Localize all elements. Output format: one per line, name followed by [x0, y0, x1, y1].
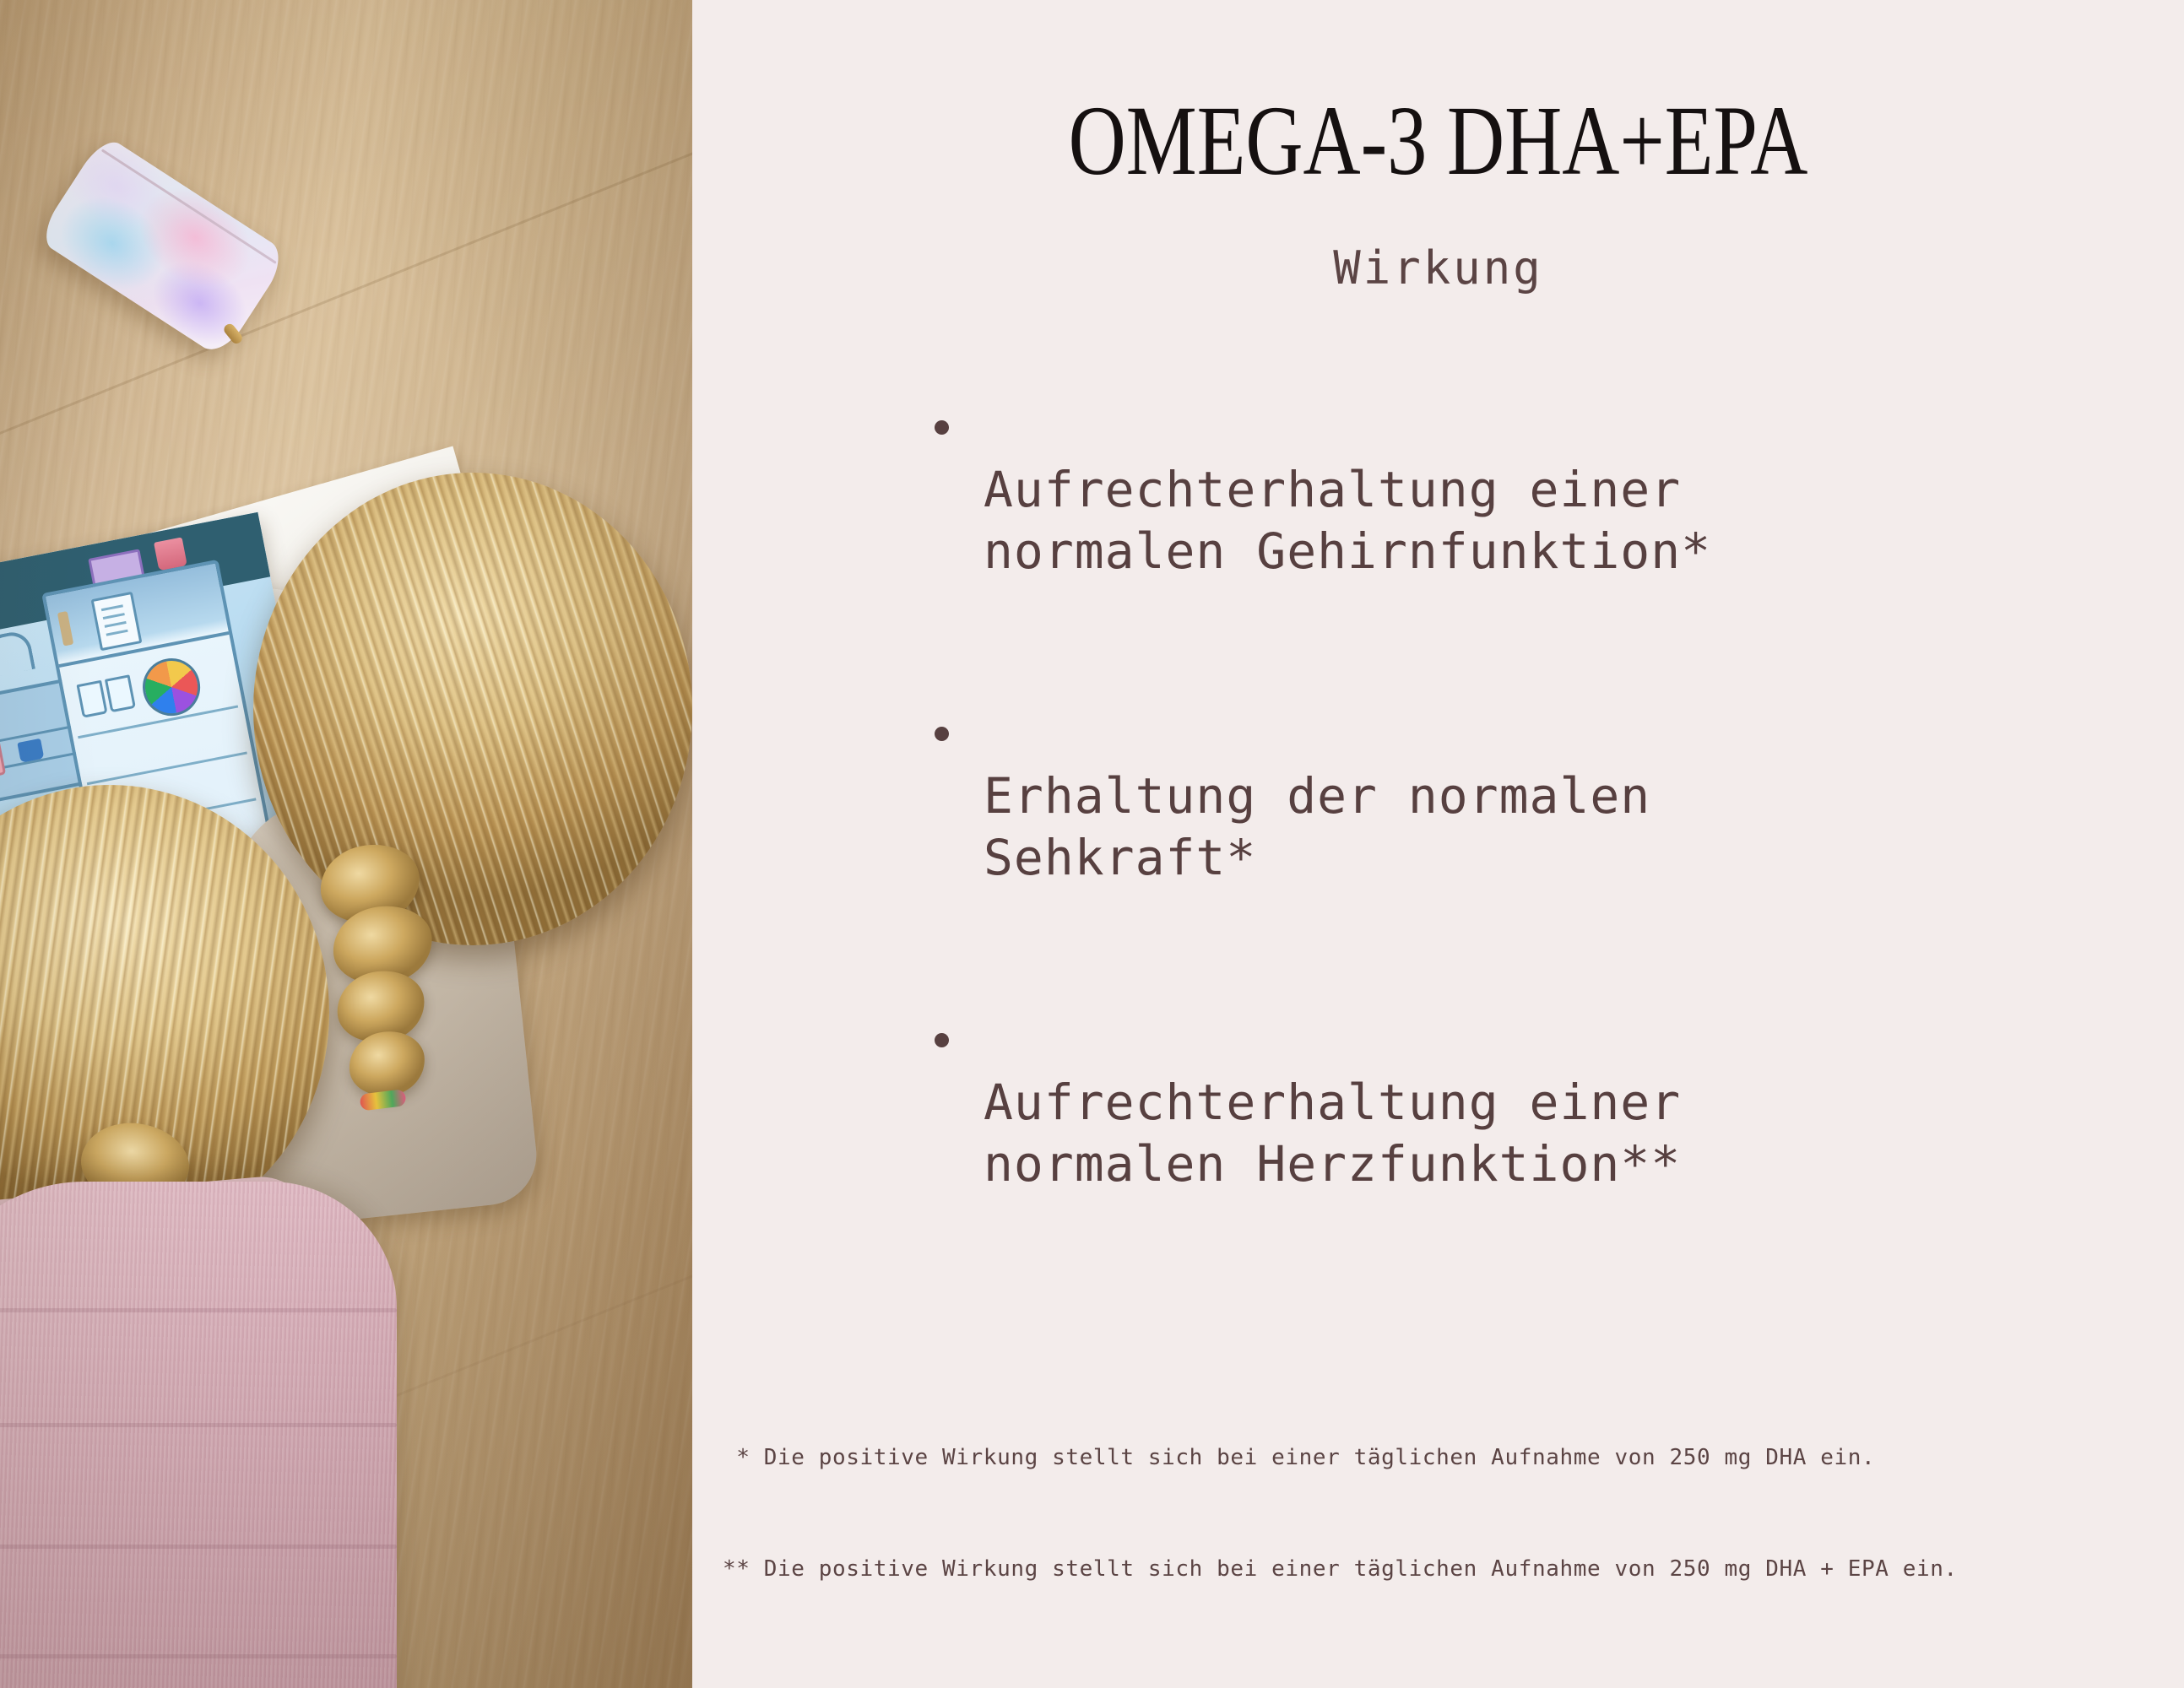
list-item: Aufrechterhaltung einer normalen Gehirnf… — [933, 397, 2132, 583]
list-item: Aufrechterhaltung einer normalen Herzfun… — [933, 1009, 2132, 1196]
slide-root: OMEGA-3 DHA+EPA Wirkung Aufrechterhaltun… — [0, 0, 2184, 1688]
photo-panel — [0, 0, 692, 1688]
page-title: OMEGA-3 DHA+EPA — [842, 91, 2035, 191]
list-item-label: Aufrechterhaltung einer normalen Herzfun… — [984, 1074, 1681, 1193]
footnote-single-asterisk: * Die positive Wirkung stellt sich bei e… — [723, 1439, 1958, 1476]
bullet-dot-icon — [935, 727, 949, 741]
list-item-label: Aufrechterhaltung einer normalen Gehirnf… — [984, 461, 1711, 581]
bullet-dot-icon — [935, 1033, 949, 1047]
bullet-dot-icon — [935, 420, 949, 435]
benefits-list: Aufrechterhaltung einer normalen Gehirnf… — [933, 397, 2132, 1196]
list-item: Erhaltung der normalen Sehkraft* — [933, 703, 2132, 890]
content-panel: OMEGA-3 DHA+EPA Wirkung Aufrechterhaltun… — [692, 0, 2184, 1688]
footnote-double-asterisk: ** Die positive Wirkung stellt sich bei … — [723, 1550, 1958, 1588]
list-item-label: Erhaltung der normalen Sehkraft* — [984, 767, 1650, 887]
page-subtitle: Wirkung — [692, 241, 2184, 295]
photo-vignette — [0, 0, 692, 1688]
footnotes: * Die positive Wirkung stellt sich bei e… — [723, 1365, 1958, 1664]
